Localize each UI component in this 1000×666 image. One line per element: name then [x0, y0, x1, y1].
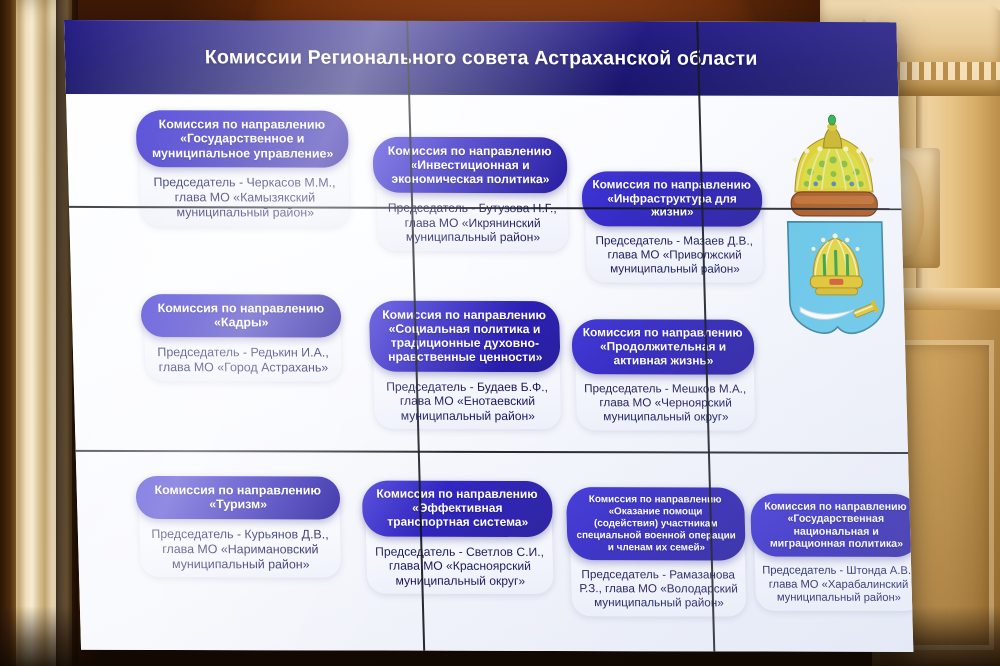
commission-card-gos-mun-upravlenie[interactable]: Комиссия по направлению «Государственное… — [139, 116, 350, 226]
commission-chair-text: Председатель - Черкасов М.М., глава МО «… — [140, 167, 350, 226]
commission-card-prodolzhitelnaya-aktivnaya-zhizn[interactable]: Комиссия по направлению «Продолжительная… — [574, 325, 755, 431]
commission-title-pill: Комиссия по направлению «Туризм» — [135, 476, 340, 519]
commission-card-turizm[interactable]: Комиссия по направлению «Туризм» Председ… — [139, 482, 342, 578]
commission-card-infrastruktura-dlya-zhizni[interactable]: Комиссия по направлению «Инфраструктура … — [584, 177, 763, 283]
commission-chair-text: Председатель - Редькин И.А., глава МО «Г… — [145, 337, 342, 381]
commission-card-socialnaya-politika[interactable]: Комиссия по направлению «Социальная поли… — [372, 307, 561, 430]
commission-title-pill: Комиссия по направлению «Государственная… — [750, 494, 913, 558]
commission-title-pill: Комиссия по направлению «Кадры» — [140, 294, 341, 337]
commission-card-nacionalnaya-migracionnaya-politika[interactable]: Комиссия по направлению «Государственная… — [753, 500, 913, 612]
commission-card-investicionnaya-ekonomicheskaya-politika[interactable]: Комиссия по направлению «Инвестиционная … — [375, 143, 568, 251]
commission-title-pill: Комиссия по направлению «Оказание помощи… — [566, 487, 746, 561]
video-wall-screen[interactable]: Комиссии Регионального совета Астраханск… — [64, 20, 913, 652]
commission-chair-text: Председатель - Будаев Б.Ф., глава МО «Ен… — [374, 371, 562, 429]
slide-title-bar: Комиссии Регионального совета Астраханск… — [64, 20, 898, 96]
commission-title-pill: Комиссия по направлению «Инфраструктура … — [581, 171, 763, 226]
commission-title-pill: Комиссия по направлению «Государственное… — [135, 110, 349, 168]
commission-card-transportnaya-sistema[interactable]: Комиссия по направлению «Эффективная тра… — [365, 487, 554, 595]
commission-title-pill: Комиссия по направлению «Эффективная тра… — [362, 481, 554, 537]
commission-title-pill: Комиссия по направлению «Социальная поли… — [369, 301, 561, 372]
commission-chair-text: Председатель - Курьянов Д.В., глава МО «… — [140, 519, 342, 578]
commission-chair-text: Председатель - Мешков М.А., глава МО «Че… — [576, 375, 756, 432]
commission-chair-text: Председатель - Светлов С.И., глава МО «К… — [366, 536, 554, 594]
left-dark-edge — [0, 0, 16, 666]
commission-chair-text: Председатель - Бутузова Н.Г., глава МО «… — [377, 193, 569, 251]
commission-chair-text: Председатель - Штонда А.В., глава МО «Ха… — [755, 557, 914, 612]
commission-chair-text: Председатель - Мазаев Д.В., глава МО «Пр… — [586, 226, 764, 283]
astrakhan-coat-of-arms-icon — [773, 114, 897, 342]
commission-card-kadry[interactable]: Комиссия по направлению «Кадры» Председа… — [144, 300, 342, 381]
page-title: Комиссии Регионального совета Астраханск… — [205, 46, 758, 70]
commission-title-pill: Комиссия по направлению «Инвестиционная … — [372, 137, 568, 194]
commission-title-pill: Комиссия по направлению «Продолжительная… — [571, 319, 755, 375]
screenshot-stage: Комиссии Регионального совета Астраханск… — [0, 0, 1000, 666]
commission-chair-text: Председатель - Рамазанова Р.З., глава МО… — [571, 560, 747, 617]
commission-card-pomoshch-svo[interactable]: Комиссия по направлению «Оказание помощи… — [569, 493, 746, 617]
